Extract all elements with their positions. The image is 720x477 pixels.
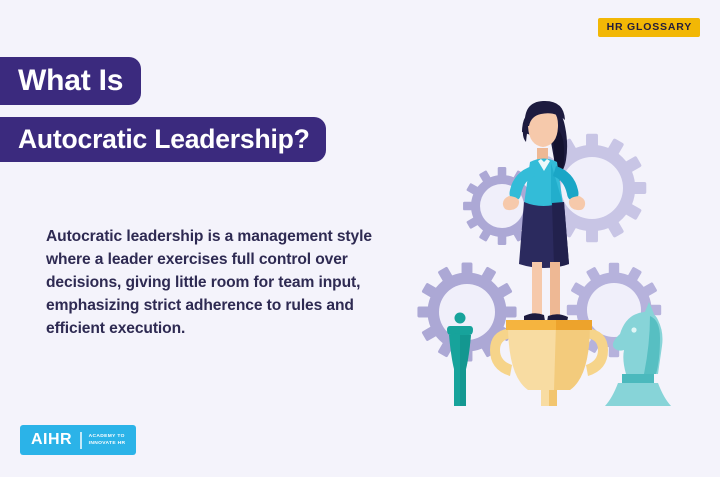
definition-body-text: Autocratic leadership is a management st… — [46, 226, 396, 341]
aihr-logo: AIHR ACADEMY TO INNOVATE HR — [20, 425, 136, 455]
gold-trophy — [490, 320, 608, 406]
page-title-line-2-text: Autocratic Leadership? — [18, 124, 310, 155]
hr-glossary-badge: HR GLOSSARY — [598, 18, 700, 37]
page-title-line-1: What Is — [0, 57, 141, 105]
logo-tagline: ACADEMY TO INNOVATE HR — [89, 433, 135, 448]
page-title-line-1-text: What Is — [18, 64, 123, 98]
logo-divider — [80, 432, 82, 449]
page-title-line-2: Autocratic Leadership? — [0, 117, 326, 162]
infographic-card: HR GLOSSARY What Is Autocratic Leadershi… — [0, 0, 720, 477]
logo-wordmark: AIHR — [20, 431, 72, 449]
leadership-illustration — [410, 96, 700, 406]
